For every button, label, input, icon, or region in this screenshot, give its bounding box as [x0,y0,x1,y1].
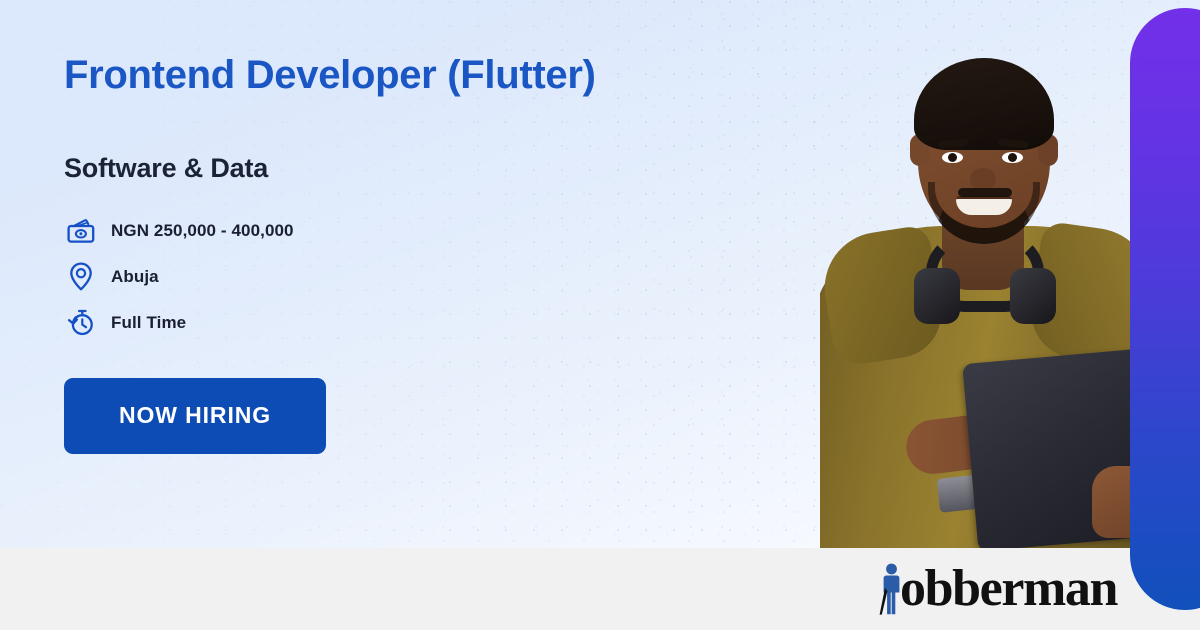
employment-type-text: Full Time [111,313,186,333]
smile [956,196,1012,215]
photo-figure [820,0,1150,548]
job-meta-list: NGN 250,000 - 400,000 Abuja [64,212,824,342]
person-silhouette-icon [876,562,908,616]
location-pin-icon [64,261,98,293]
side-accent-pill [1130,8,1200,610]
stopwatch-icon [64,307,98,339]
job-category: Software & Data [64,154,824,184]
job-title: Frontend Developer (Flutter) [64,52,824,98]
wallet-cash-icon [64,215,98,247]
jobberman-wordmark: obberman [900,563,1117,615]
eye-left [942,152,963,163]
eye-right [1002,152,1023,163]
meta-row-employment-type: Full Time [64,304,824,342]
headphone-cup-left [914,268,960,324]
candidate-photo [820,0,1150,548]
banner-content: Frontend Developer (Flutter) Software & … [64,52,824,454]
salary-text: NGN 250,000 - 400,000 [111,221,294,241]
mustache [958,188,1012,197]
hair [914,58,1054,150]
jobberman-logo[interactable]: obberman [876,560,1117,618]
meta-row-salary: NGN 250,000 - 400,000 [64,212,824,250]
location-text: Abuja [111,267,159,287]
job-banner: Frontend Developer (Flutter) Software & … [0,0,1200,630]
headphone-cup-right [1010,268,1056,324]
meta-row-location: Abuja [64,258,824,296]
now-hiring-button[interactable]: NOW HIRING [64,378,326,454]
